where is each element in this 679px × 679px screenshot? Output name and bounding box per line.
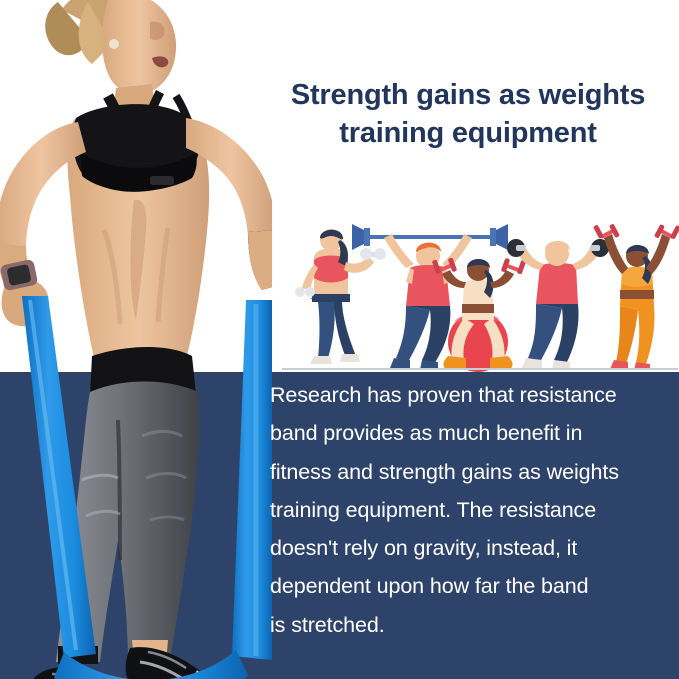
body-copy: Research has proven that resistance band…: [270, 376, 674, 644]
figure-woman-dumbbell-curl: [295, 229, 386, 364]
barbell-plate-right: [496, 224, 508, 250]
body-line: band provides as much benefit in: [270, 414, 674, 452]
barbell-plate-left: [352, 224, 364, 250]
headline-line-2: training equipment: [262, 114, 674, 152]
body-line: Research has proven that resistance: [270, 376, 674, 414]
fitness-figures-illustration: [280, 222, 679, 372]
body-line: dependent upon how far the band: [270, 567, 674, 605]
dumbbell-icon: [593, 223, 620, 239]
product-marketing-poster: Strength gains as weights training equip…: [0, 0, 679, 679]
body-line: fitness and strength gains as weights: [270, 453, 674, 491]
model-photo: [0, 0, 272, 679]
resistance-band-right: [232, 300, 272, 660]
body-line: training equipment. The resistance: [270, 491, 674, 529]
figures-ground-line: [282, 368, 678, 370]
dumbbell-icon: [360, 248, 386, 260]
body-line: is stretched.: [270, 606, 674, 644]
barbell-bar: [356, 235, 508, 239]
earring: [109, 39, 119, 49]
tank-top: [536, 263, 578, 304]
headline: Strength gains as weights training equip…: [262, 76, 674, 153]
body-line: doesn't rely on gravity, instead, it: [270, 529, 674, 567]
headline-line-1: Strength gains as weights: [262, 76, 674, 114]
figure-man-shoulder-press: [507, 239, 609, 370]
